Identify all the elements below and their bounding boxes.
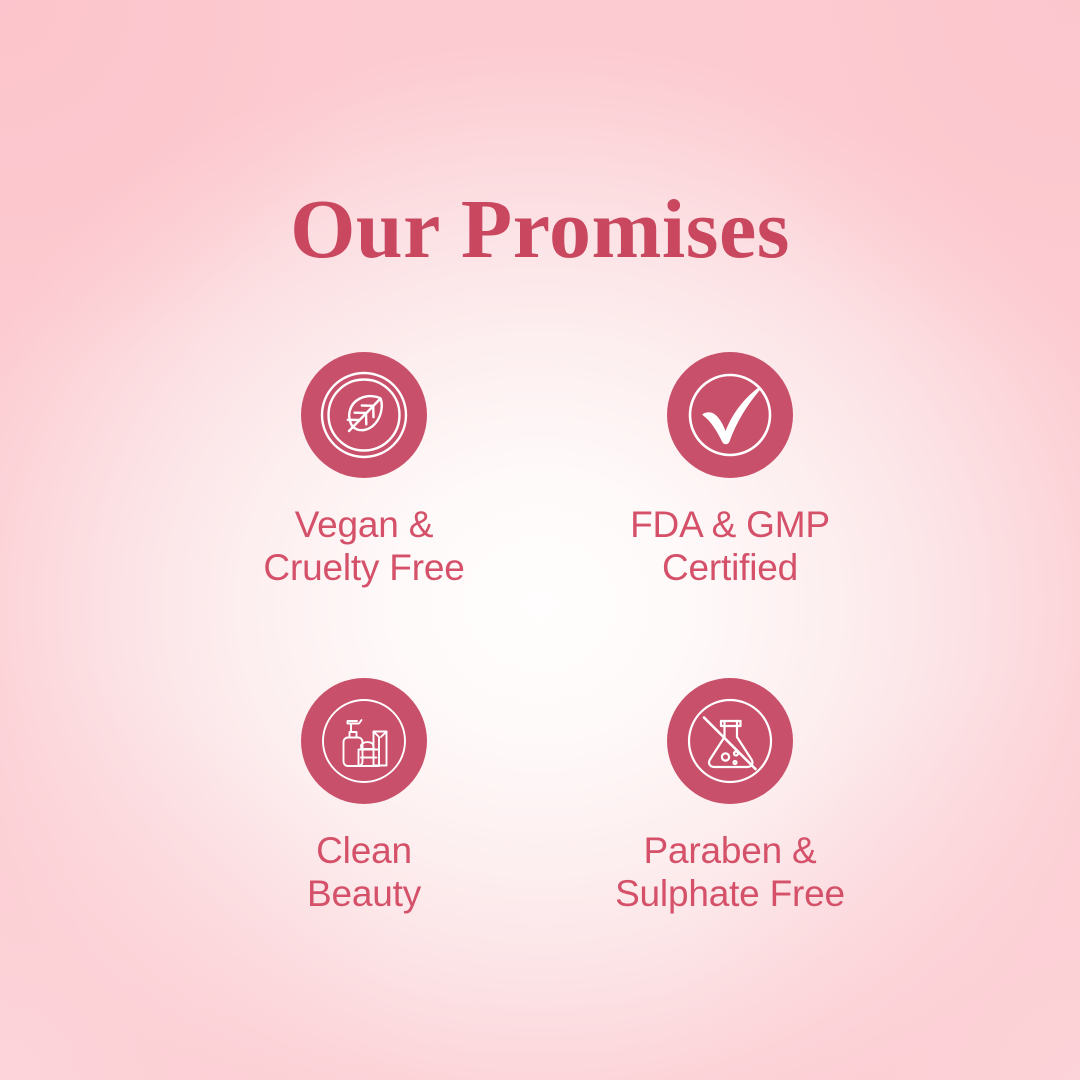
promise-label: FDA & GMP Certified: [630, 504, 830, 590]
promise-label: Clean Beauty: [307, 830, 421, 916]
checkmark-in-circle-icon: [682, 367, 778, 463]
promise-badge: [301, 352, 427, 478]
promise-item-fda-gmp-certified: FDA & GMP Certified: [540, 352, 1080, 678]
promise-label: Paraben & Sulphate Free: [615, 830, 845, 916]
promise-item-clean-beauty: Clean Beauty: [0, 678, 540, 1004]
page-title: Our Promises: [0, 188, 1080, 272]
promise-item-vegan-cruelty-free: Vegan & Cruelty Free: [0, 352, 540, 678]
promise-badge: [667, 678, 793, 804]
no-chemical-flask-in-circle-icon: [682, 693, 778, 789]
our-promises-card: Our Promises: [0, 0, 1080, 1080]
promises-grid: Vegan & Cruelty Free FDA & GMP Certified: [0, 352, 1080, 1004]
cosmetic-products-in-circle-icon: [316, 693, 412, 789]
promise-item-paraben-sulphate-free: Paraben & Sulphate Free: [540, 678, 1080, 1004]
leaf-in-circle-icon: [316, 367, 412, 463]
promise-badge: [301, 678, 427, 804]
promise-label: Vegan & Cruelty Free: [263, 504, 464, 590]
promise-badge: [667, 352, 793, 478]
